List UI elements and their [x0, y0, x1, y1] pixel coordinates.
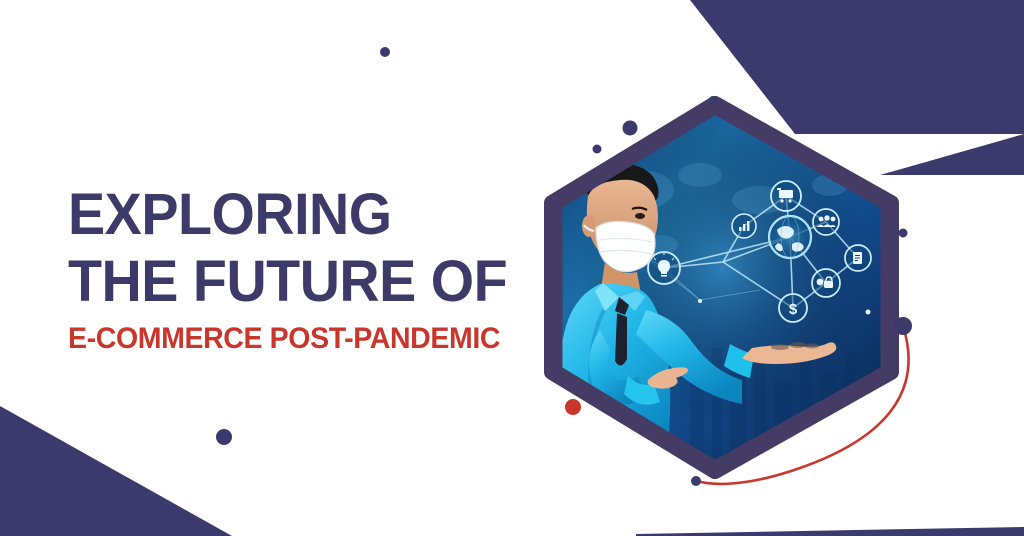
dot-bottom-curve-end: [691, 476, 701, 486]
page-subtitle: E-COMMERCE POST-PANDEMIC: [68, 323, 515, 355]
dot-bottom-left: [216, 429, 232, 445]
dot-right-small: [899, 229, 908, 238]
dot-red-left: [565, 399, 581, 415]
banner-canvas: $: [0, 0, 1024, 536]
page-title-line-1: EXPLORING: [68, 186, 519, 244]
page-title-line-2: THE FUTURE OF: [68, 253, 519, 311]
dot-upper-left: [380, 47, 390, 57]
dot-right-large: [894, 317, 912, 335]
dot-upper-small: [709, 96, 717, 104]
headline-block: EXPLORING THE FUTURE OF E-COMMERCE POST-…: [68, 186, 538, 355]
dot-upper-mid: [623, 121, 638, 136]
dot-upper-tiny: [593, 145, 602, 154]
